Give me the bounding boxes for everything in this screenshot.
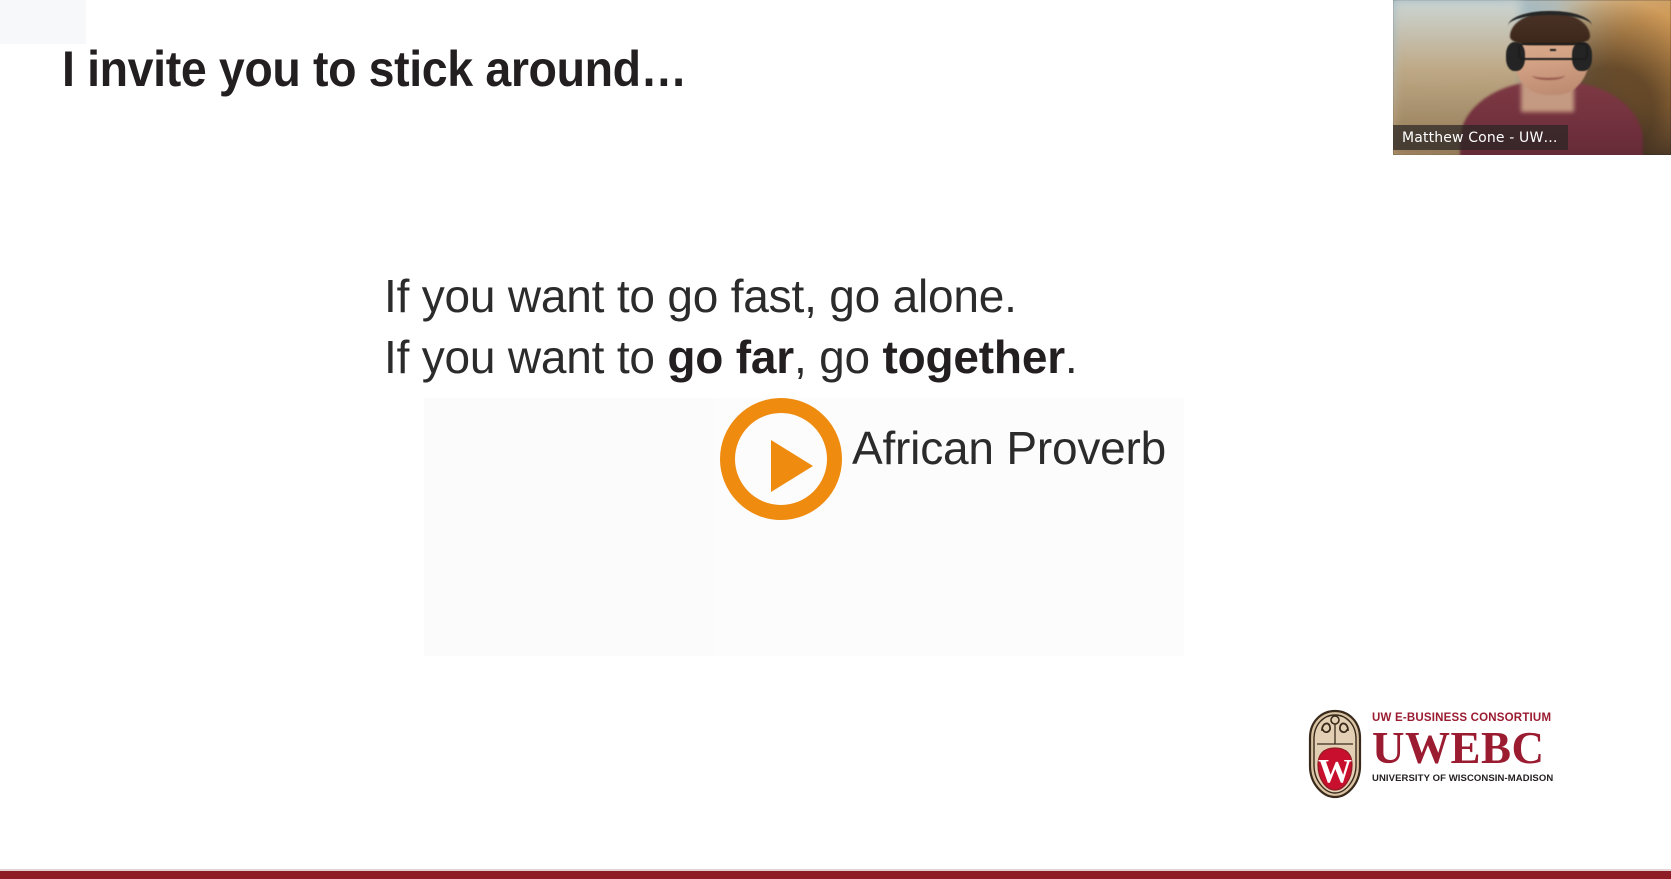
corner-artifact <box>0 0 86 44</box>
quote-line-2: If you want to go far, go together. <box>384 327 1384 388</box>
uwebc-tagline-bottom: UNIVERSITY OF WISCONSIN-MADISON <box>1372 773 1562 784</box>
uwebc-logo: W UW E-BUSINESS CONSORTIUM UWEBC UNIVERS… <box>1302 706 1560 802</box>
slide-title: I invite you to stick around… <box>62 40 687 99</box>
participant-smile <box>1532 70 1565 80</box>
quote-attribution: African Proverb <box>852 421 1166 475</box>
svg-text:W: W <box>1318 753 1352 790</box>
attribution-row: African Proverb <box>384 406 1384 516</box>
uwebc-wordmark: UWEBC <box>1372 724 1562 772</box>
participant-video-tile[interactable]: Matthew Cone - UW… <box>1393 0 1671 155</box>
quote-block: If you want to go fast, go alone. If you… <box>384 266 1384 388</box>
uw-crest-icon: W <box>1302 708 1368 800</box>
quote-line-2-suffix: . <box>1065 331 1078 383</box>
quote-line-2-middle: , go <box>794 331 883 383</box>
presentation-screen: I invite you to stick around… If you wan… <box>0 0 1671 879</box>
eyeglasses-icon <box>1518 43 1588 60</box>
quote-line-1: If you want to go fast, go alone. <box>384 266 1384 327</box>
play-triangle-glyph <box>771 440 813 492</box>
bottom-red-rule <box>0 871 1671 879</box>
quote-line-2-prefix: If you want to <box>384 331 667 383</box>
participant-name-label: Matthew Cone - UW… <box>1393 125 1568 150</box>
play-icon[interactable] <box>720 398 842 520</box>
uwebc-logo-text: UW E-BUSINESS CONSORTIUM UWEBC UNIVERSIT… <box>1372 712 1562 784</box>
quote-emphasis-together: together <box>883 331 1065 383</box>
quote-emphasis-go-far: go far <box>667 331 794 383</box>
